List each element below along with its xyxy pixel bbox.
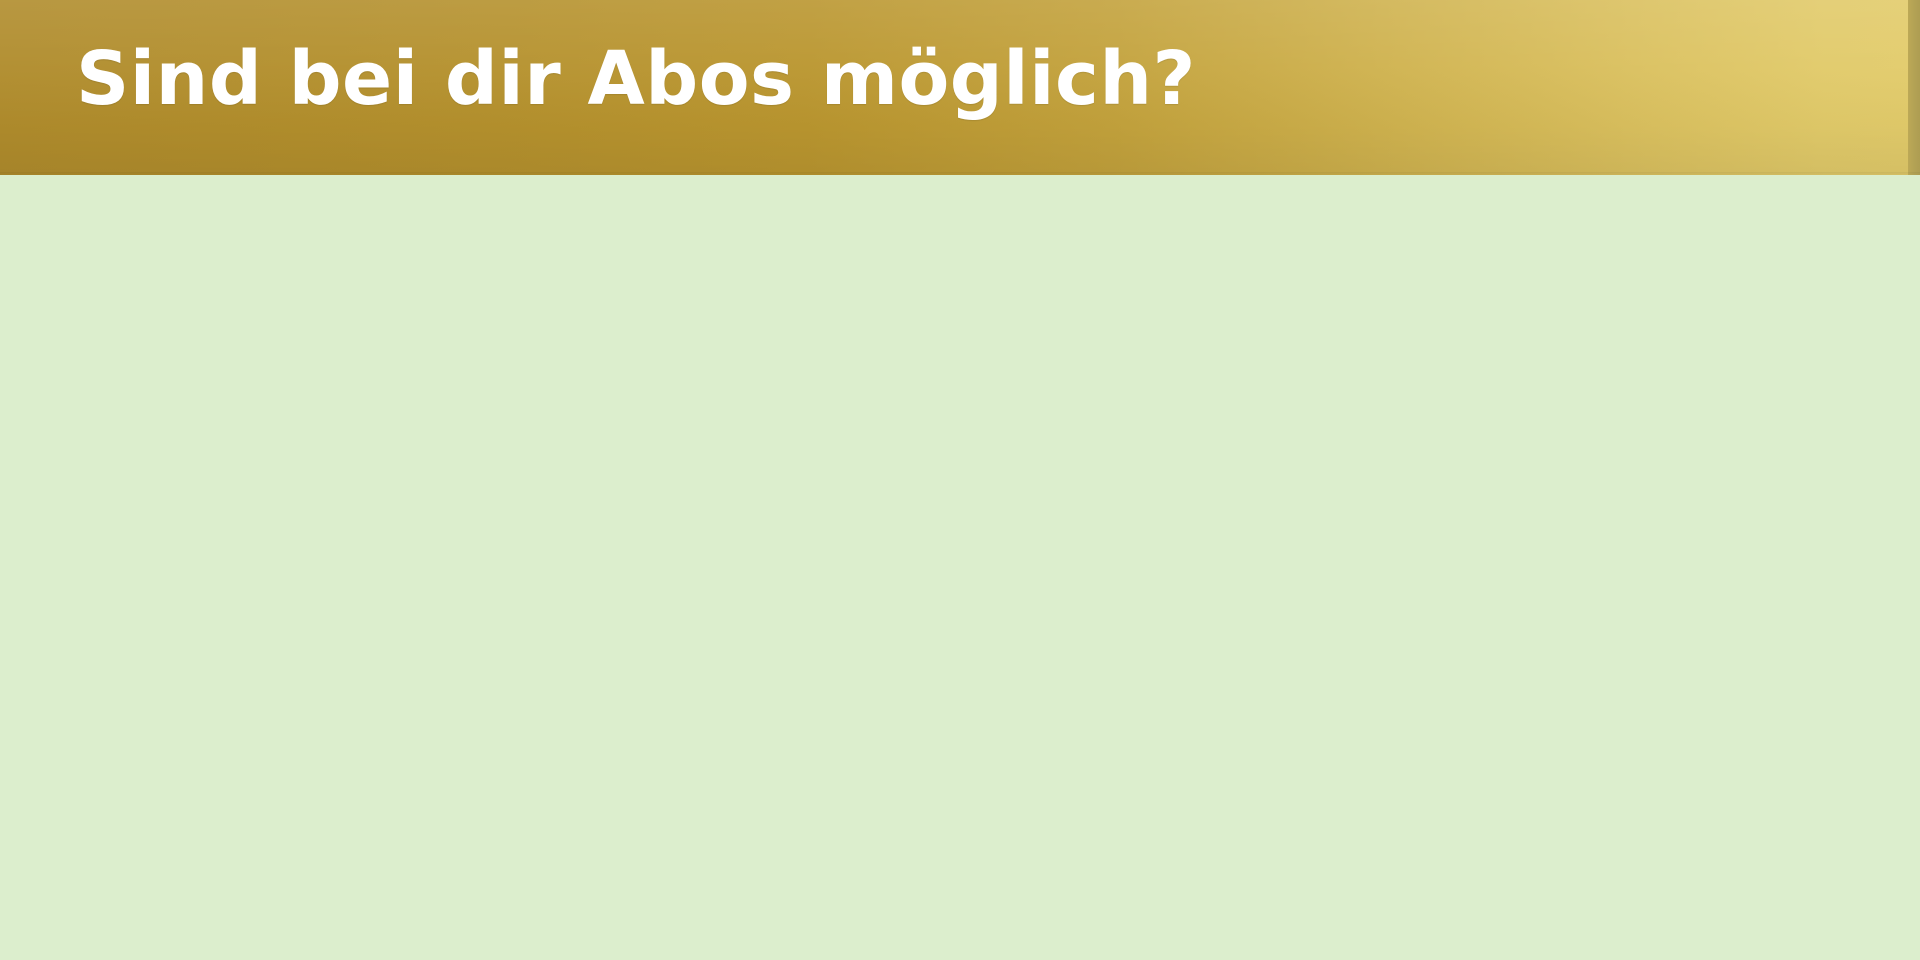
slide-title: Sind bei dir Abos möglich? <box>76 23 1196 135</box>
slide-content-body <box>0 175 1920 960</box>
presentation-slide: Sind bei dir Abos möglich? <box>0 0 1920 960</box>
slide-header-banner: Sind bei dir Abos möglich? <box>0 0 1920 175</box>
slide-content-placeholder <box>76 215 1844 905</box>
header-right-edge-strip <box>1908 0 1920 175</box>
